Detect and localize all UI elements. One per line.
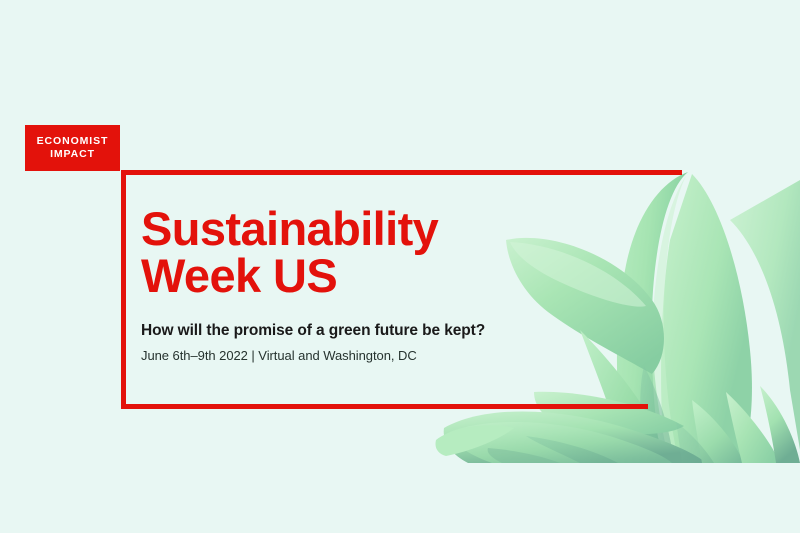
frame-border-top xyxy=(121,170,682,175)
economist-impact-logo: ECONOMIST IMPACT xyxy=(25,125,120,171)
event-text-block: Sustainability Week US How will the prom… xyxy=(141,205,561,364)
logo-line-impact: IMPACT xyxy=(50,148,95,161)
frame-border-left xyxy=(121,170,126,409)
frame-border-bottom xyxy=(121,404,648,409)
event-details: June 6th–9th 2022 | Virtual and Washingt… xyxy=(141,347,561,364)
logo-line-economist: ECONOMIST xyxy=(37,135,109,148)
event-title: Sustainability Week US xyxy=(141,205,561,299)
event-banner: ECONOMIST IMPACT Sustainability Week US … xyxy=(0,0,800,533)
event-tagline: How will the promise of a green future b… xyxy=(141,321,561,340)
